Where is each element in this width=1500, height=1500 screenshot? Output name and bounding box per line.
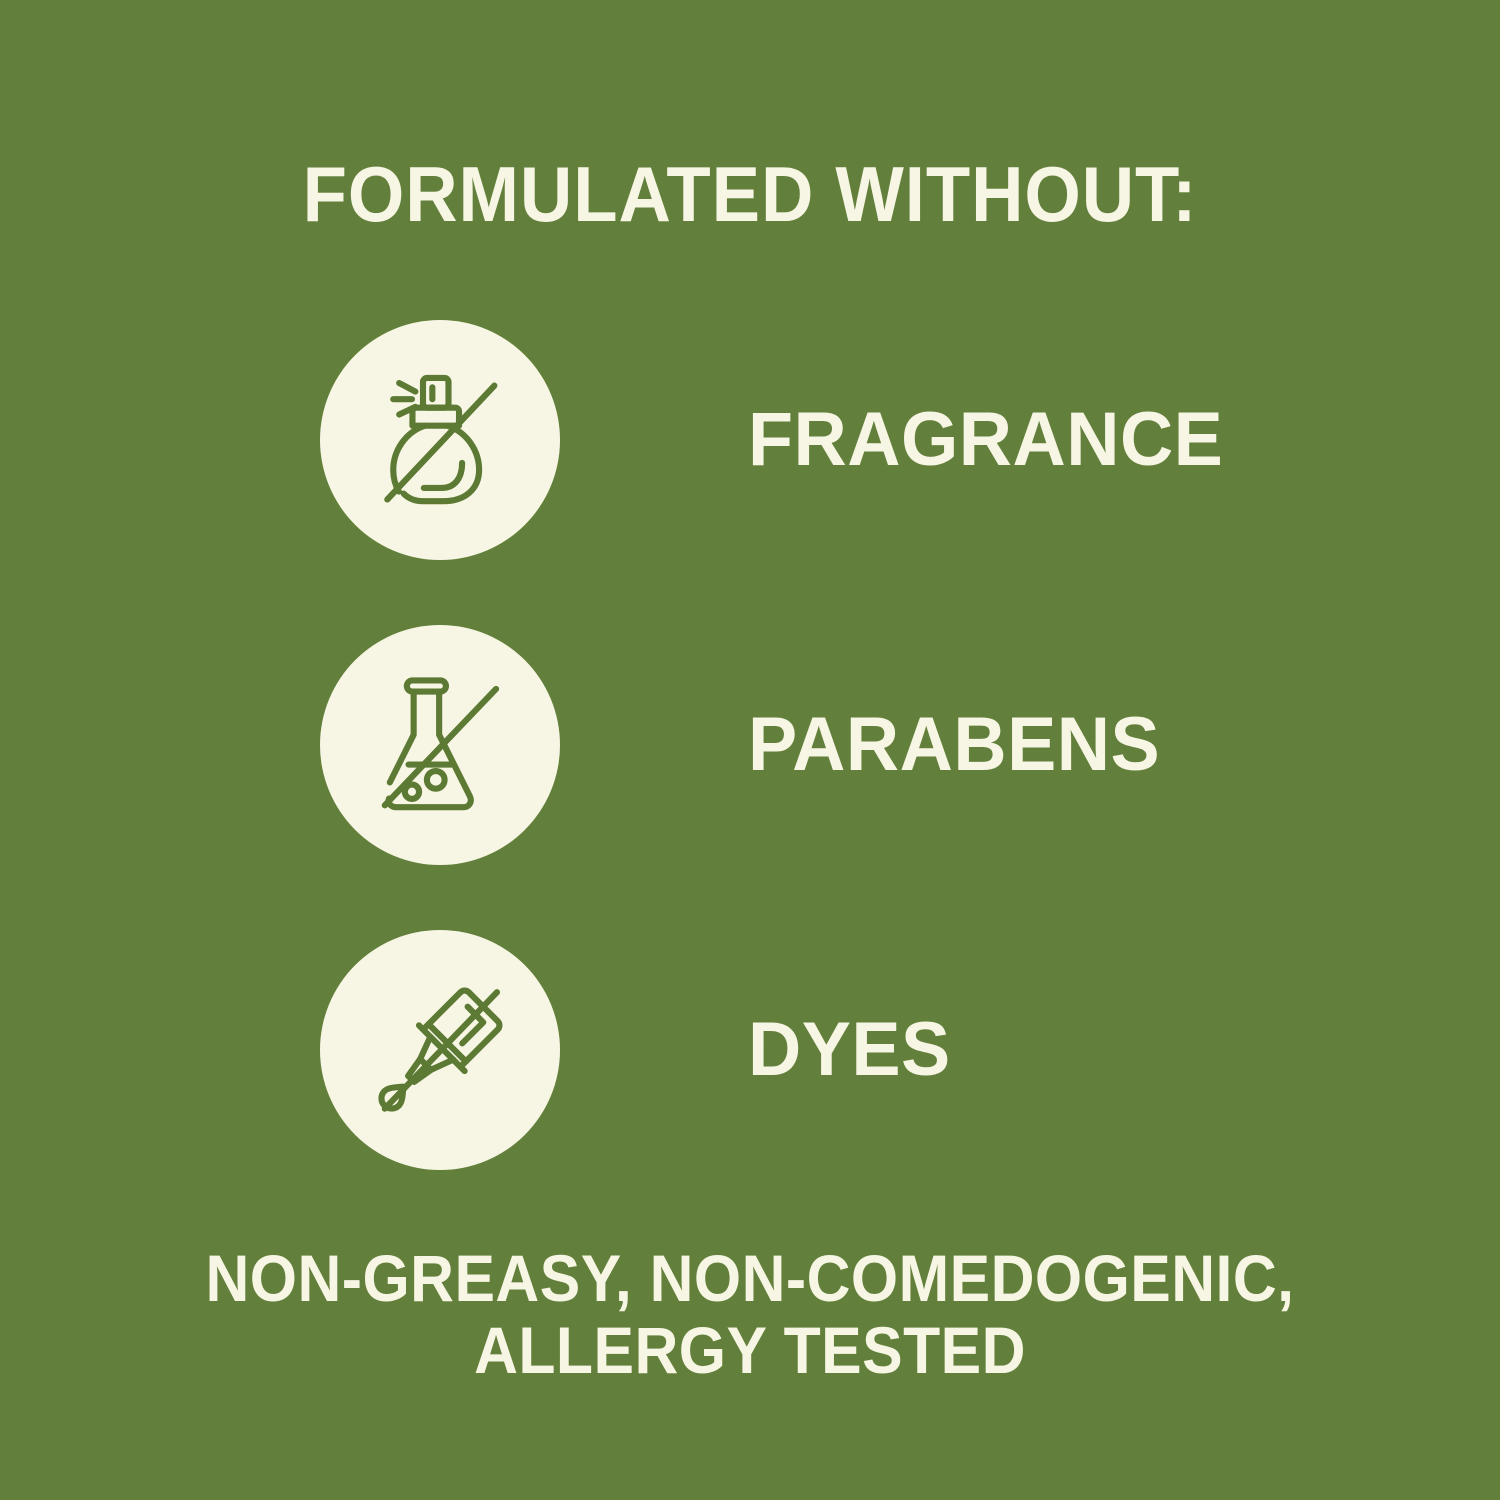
formulated-without-poster: FORMULATED WITHOUT: bbox=[0, 0, 1500, 1500]
claim-badge bbox=[320, 625, 560, 865]
claim-label-parabens: PARABENS bbox=[748, 707, 1160, 783]
claim-badge bbox=[320, 930, 560, 1170]
page-title: FORMULATED WITHOUT: bbox=[53, 155, 1448, 233]
claim-label-dyes: DYES bbox=[748, 1012, 951, 1088]
footer-line-1: NON-GREASY, NON-COMEDOGENIC, bbox=[60, 1243, 1440, 1315]
claim-badge bbox=[320, 320, 560, 560]
claim-row-dyes: DYES bbox=[320, 930, 1380, 1170]
claim-row-fragrance: FRAGRANCE bbox=[320, 320, 1380, 560]
no-perfume-spray-bottle-icon bbox=[355, 355, 525, 525]
claims-list: FRAGRANCE bbox=[320, 320, 1380, 1235]
claim-row-parabens: PARABENS bbox=[320, 625, 1380, 865]
no-dropper-pipette-icon bbox=[355, 965, 525, 1135]
footer-line-2: ALLERGY TESTED bbox=[60, 1315, 1440, 1387]
footer-claims: NON-GREASY, NON-COMEDOGENIC, ALLERGY TES… bbox=[60, 1243, 1440, 1387]
no-erlenmeyer-flask-icon bbox=[355, 660, 525, 830]
claim-label-fragrance: FRAGRANCE bbox=[748, 402, 1223, 478]
